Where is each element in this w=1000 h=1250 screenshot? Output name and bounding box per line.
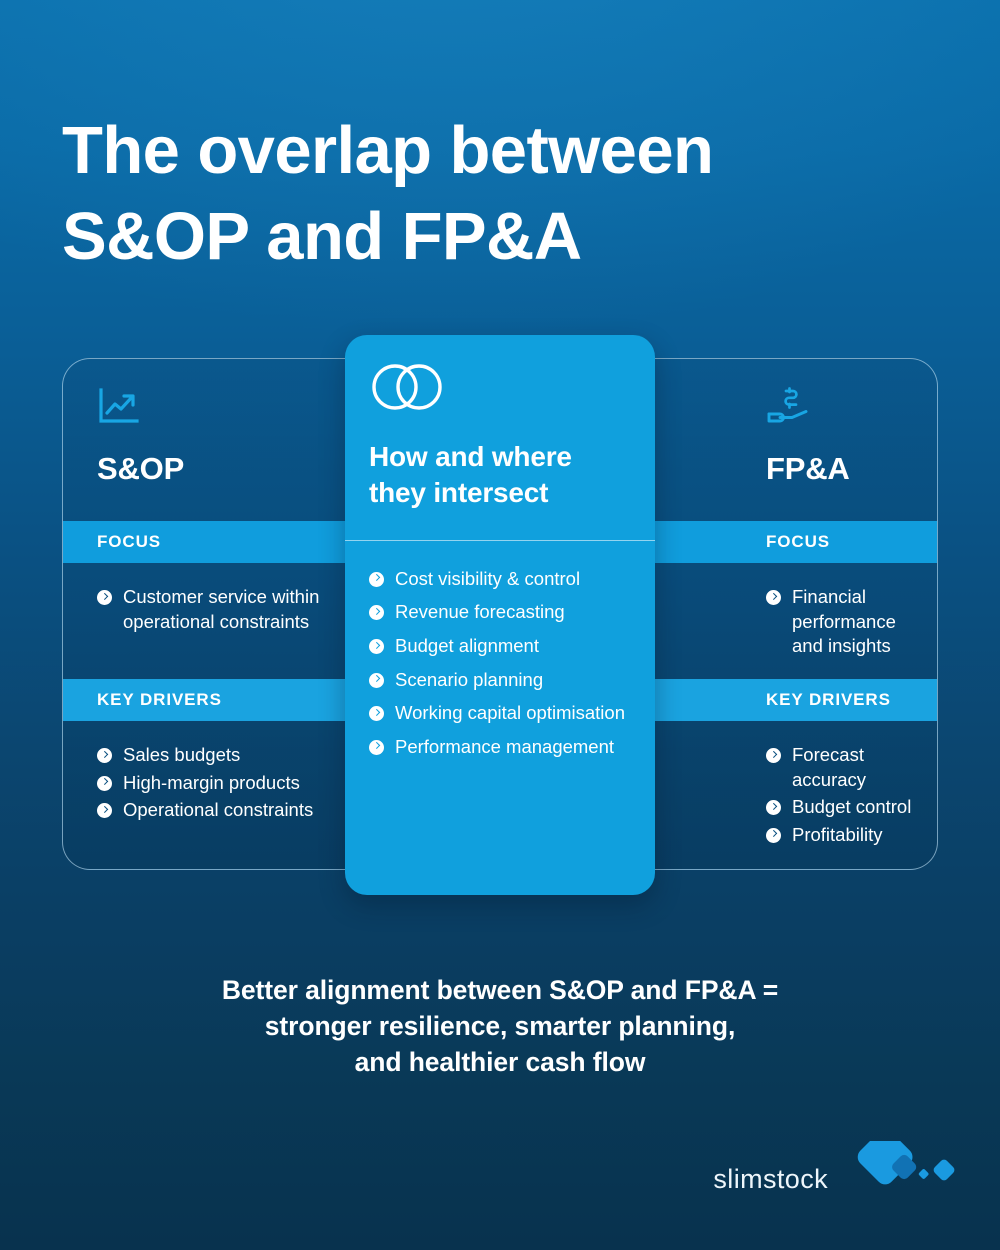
card-intersect-list: Cost visibility & control Revenue foreca… <box>345 541 655 760</box>
tagline-line-3: and healthier cash flow <box>0 1044 1000 1080</box>
page-title: The overlap between S&OP and FP&A <box>62 108 922 280</box>
list-item-label: Forecast accuracy <box>792 743 919 792</box>
list-item-label: Customer service within operational cons… <box>123 585 343 634</box>
chevron-bullet-icon <box>97 748 112 763</box>
overlapping-circles-icon <box>369 363 655 411</box>
tagline-line-1: Better alignment between S&OP and FP&A = <box>0 972 1000 1008</box>
chevron-bullet-icon <box>766 828 781 843</box>
list-item: Cost visibility & control <box>369 567 655 592</box>
list-item-label: Cost visibility & control <box>395 567 580 592</box>
hand-holding-dollar-icon <box>766 387 937 427</box>
list-item: Working capital optimisation <box>369 701 655 726</box>
list-item: Financial performance and insights <box>766 585 919 659</box>
list-item: Performance management <box>369 735 655 760</box>
list-item-label: Working capital optimisation <box>395 701 625 726</box>
page-title-line-1: The overlap between <box>62 113 713 188</box>
chevron-bullet-icon <box>766 590 781 605</box>
list-item-label: Performance management <box>395 735 614 760</box>
card-intersect-header: How and where they intersect <box>345 335 655 512</box>
chevron-bullet-icon <box>369 605 384 620</box>
chevron-bullet-icon <box>369 673 384 688</box>
list-item: Scenario planning <box>369 668 655 693</box>
list-item-label: Budget control <box>792 795 911 820</box>
card-intersect-title: How and where they intersect <box>369 439 655 512</box>
list-item: Revenue forecasting <box>369 600 655 625</box>
chevron-bullet-icon <box>766 800 781 815</box>
list-item: Forecast accuracy <box>766 743 919 792</box>
list-item-label: Sales budgets <box>123 743 240 768</box>
tagline-line-2: stronger resilience, smarter planning, <box>0 1008 1000 1044</box>
list-item-label: Operational constraints <box>123 798 313 823</box>
list-item: Profitability <box>766 823 919 848</box>
page-title-line-2: S&OP and FP&A <box>62 194 922 280</box>
card-fpa-title: FP&A <box>766 451 937 487</box>
list-item-label: Profitability <box>792 823 882 848</box>
list-item-label: High-margin products <box>123 771 300 796</box>
list-item-label: Budget alignment <box>395 634 539 659</box>
chevron-bullet-icon <box>369 740 384 755</box>
chevron-bullet-icon <box>97 776 112 791</box>
card-intersect: How and where they intersect Cost visibi… <box>345 335 655 895</box>
tagline: Better alignment between S&OP and FP&A =… <box>0 972 1000 1080</box>
chevron-bullet-icon <box>97 803 112 818</box>
slimstock-logo: slimstock <box>713 1141 958 1218</box>
chevron-bullet-icon <box>97 590 112 605</box>
slimstock-diamonds-icon <box>842 1141 958 1218</box>
chevron-bullet-icon <box>369 639 384 654</box>
card-intersect-title-line-1: How and where <box>369 441 572 472</box>
card-intersect-title-line-2: they intersect <box>369 477 548 508</box>
chevron-bullet-icon <box>369 706 384 721</box>
list-item: Budget control <box>766 795 919 820</box>
list-item-label: Scenario planning <box>395 668 543 693</box>
chevron-bullet-icon <box>369 572 384 587</box>
list-item-label: Revenue forecasting <box>395 600 565 625</box>
chevron-bullet-icon <box>766 748 781 763</box>
list-item: Budget alignment <box>369 634 655 659</box>
logo-wordmark: slimstock <box>713 1164 828 1195</box>
list-item-label: Financial performance and insights <box>792 585 919 659</box>
